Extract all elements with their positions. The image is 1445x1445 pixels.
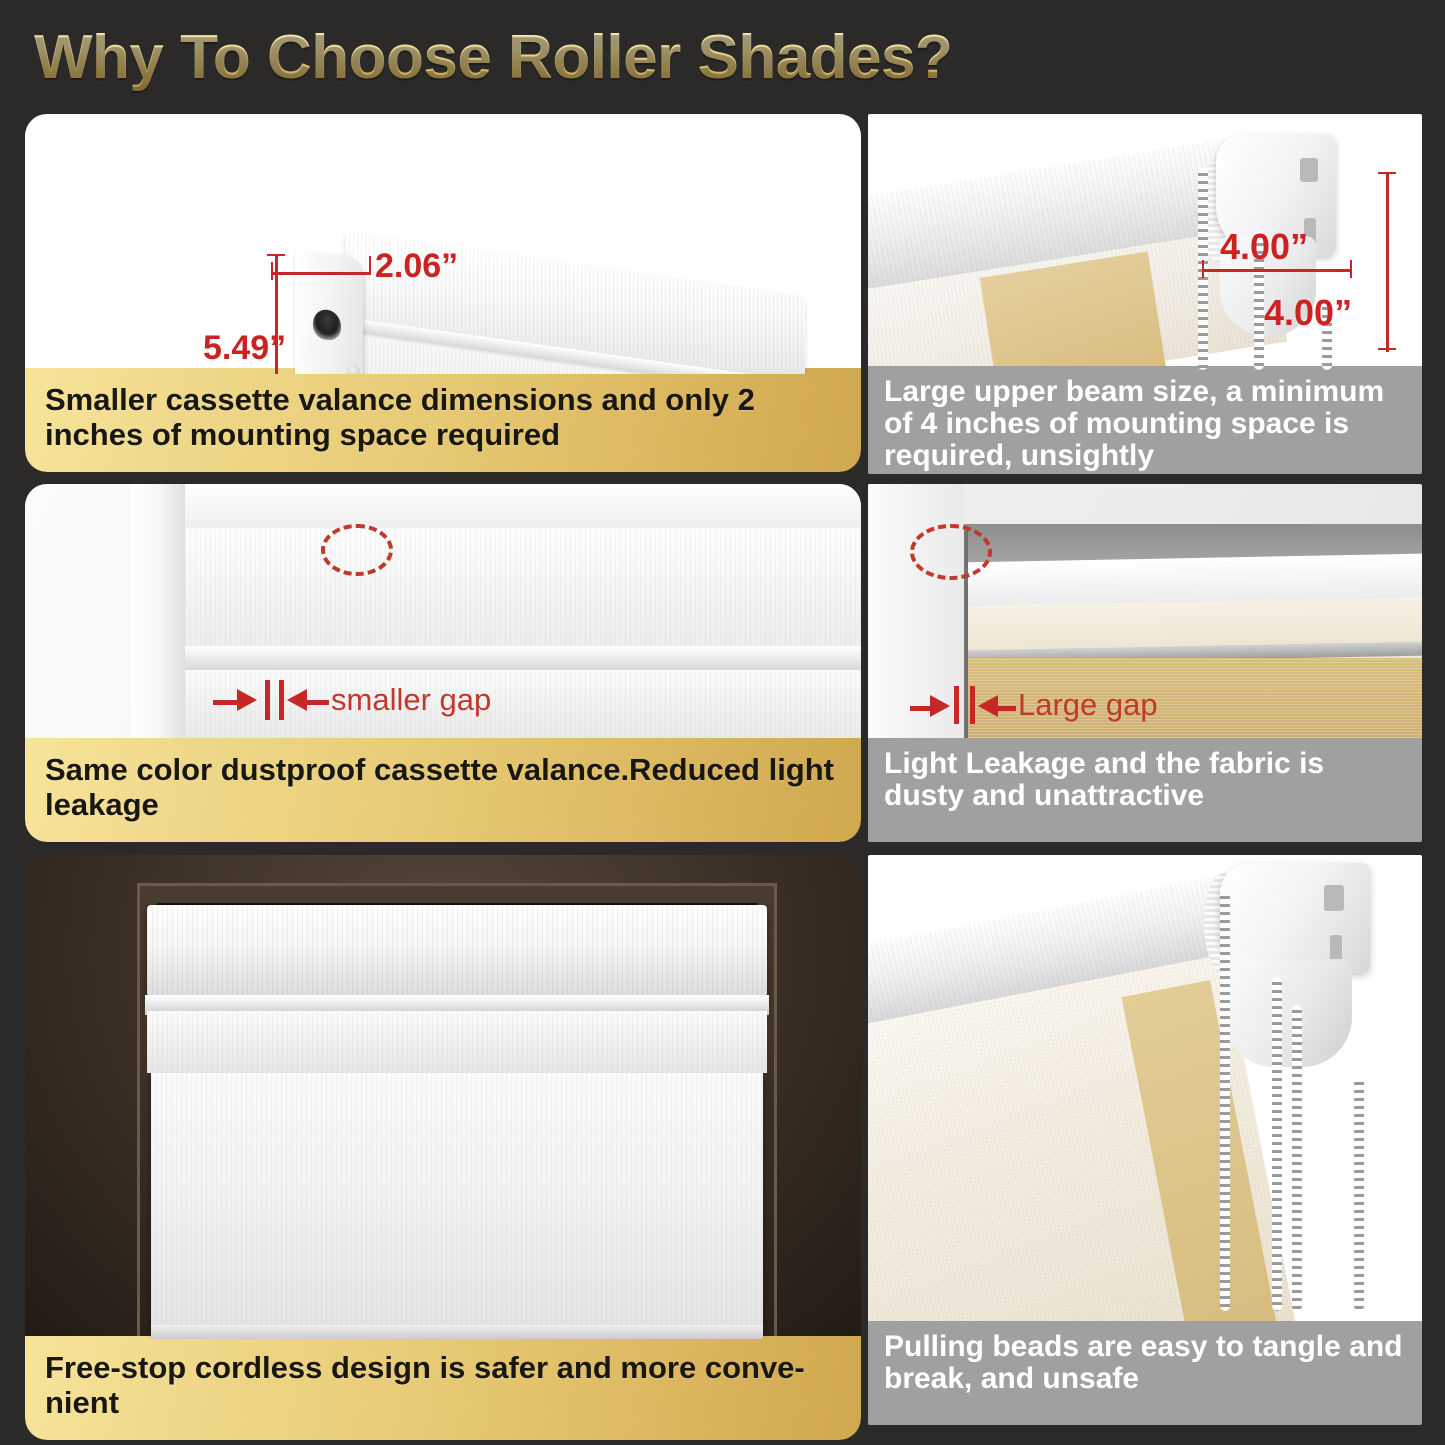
cassette-valance-face bbox=[185, 528, 861, 648]
gap-marker-bar-b bbox=[970, 686, 975, 724]
gap-arrow-right-tail bbox=[307, 700, 329, 705]
shade-fabric bbox=[151, 1069, 763, 1331]
cassette-valance-top bbox=[147, 905, 767, 997]
bead-chain-tail bbox=[1354, 1077, 1364, 1311]
panel-bad-bead-chain: Pulling beads are easy to tangle and bre… bbox=[868, 855, 1422, 1425]
window-frame-header bbox=[131, 484, 861, 528]
beam-width-tick-left bbox=[1202, 260, 1204, 278]
beam-height-tick-top bbox=[1378, 172, 1396, 174]
panel-caption-good-dustproof: Same color dustproof cassette valance.Re… bbox=[25, 738, 861, 842]
gap-highlight-ellipse bbox=[910, 524, 992, 580]
width-dimension-tick-left bbox=[271, 262, 273, 280]
end-cap-screw-small bbox=[347, 364, 360, 374]
panel-bad-beam-size: 4.00” 4.00” Large upper beam size, a min… bbox=[868, 114, 1422, 474]
gap-arrow-right-head bbox=[287, 689, 307, 711]
large-gap-label: Large gap bbox=[1018, 687, 1158, 723]
height-dimension-label: 5.49” bbox=[203, 329, 286, 368]
end-cap-hole bbox=[313, 308, 341, 341]
gap-arrow-right-head bbox=[978, 695, 998, 717]
beam-width-dimension-line bbox=[1202, 269, 1352, 272]
bead-chain-front bbox=[1220, 891, 1230, 1311]
panel-caption-good-valance-size: Smaller cassette valance dimensions and … bbox=[25, 368, 861, 472]
panel-caption-good-cordless: Free-stop cordless design is safer and m… bbox=[25, 1336, 861, 1440]
height-dimension-tick-top bbox=[267, 254, 285, 256]
panel-caption-bad-light-leak: Light Leakage and the fabric is dusty an… bbox=[868, 738, 1422, 842]
light-leak-photo: Large gap bbox=[868, 484, 1422, 738]
shade-hem-bar bbox=[151, 1325, 763, 1339]
panel-caption-bad-bead-chain: Pulling beads are easy to tangle and bre… bbox=[868, 1321, 1422, 1425]
panel-bad-light-leak: Large gap Light Leakage and the fabric i… bbox=[868, 484, 1422, 842]
comparison-grid: 2.06” 5.49” Smaller cassette valance dim… bbox=[0, 0, 1445, 1445]
valance-size-photo: 2.06” 5.49” bbox=[25, 114, 861, 374]
cordless-room-photo bbox=[25, 855, 861, 1339]
gap-marker-bar-a bbox=[265, 680, 270, 720]
bracket-slot-top bbox=[1324, 885, 1344, 911]
gap-arrow-left-tail bbox=[213, 700, 239, 705]
beam-width-dimension-label: 4.00” bbox=[1220, 226, 1308, 268]
gap-marker-bar-b bbox=[279, 680, 284, 720]
mounting-bracket-upper bbox=[1220, 863, 1370, 973]
mounting-bracket-lower bbox=[1224, 959, 1352, 1067]
bracket-slot-top bbox=[1300, 158, 1318, 182]
beam-height-tick-bottom bbox=[1378, 348, 1396, 350]
panel-good-valance-size: 2.06” 5.49” Smaller cassette valance dim… bbox=[25, 114, 861, 472]
bead-chain-photo bbox=[868, 855, 1422, 1321]
gap-arrow-left-head bbox=[237, 689, 257, 711]
bead-chain-middle bbox=[1272, 977, 1282, 1311]
window-frame-left bbox=[131, 484, 185, 740]
gap-marker-bar-a bbox=[954, 686, 959, 724]
beam-height-dimension-line bbox=[1386, 172, 1389, 352]
panel-good-cordless: Free-stop cordless design is safer and m… bbox=[25, 855, 861, 1440]
panel-good-dustproof: smaller gap Same color dustproof cassett… bbox=[25, 484, 861, 842]
valance-end-cap bbox=[295, 250, 363, 374]
gap-arrow-left-tail bbox=[910, 706, 932, 711]
dustproof-gap-photo: smaller gap bbox=[25, 484, 861, 740]
valance-bottom-rail bbox=[183, 646, 861, 670]
bead-chain-inner bbox=[1292, 1005, 1302, 1311]
gap-arrow-right-tail bbox=[998, 706, 1016, 711]
beam-width-tick-right bbox=[1350, 260, 1352, 278]
cassette-valance-lower bbox=[147, 1011, 767, 1073]
beam-size-photo: 4.00” 4.00” bbox=[868, 114, 1422, 370]
smaller-gap-label: smaller gap bbox=[331, 682, 491, 718]
gap-arrow-left-head bbox=[930, 695, 950, 717]
panel-caption-bad-beam-size: Large upper beam size, a minimum of 4 in… bbox=[868, 366, 1422, 474]
width-dimension-label: 2.06” bbox=[375, 247, 458, 286]
gap-highlight-ellipse bbox=[321, 524, 393, 576]
width-dimension-line bbox=[271, 272, 371, 275]
width-dimension-tick-right bbox=[369, 256, 371, 274]
beam-height-dimension-label: 4.00” bbox=[1264, 292, 1352, 334]
